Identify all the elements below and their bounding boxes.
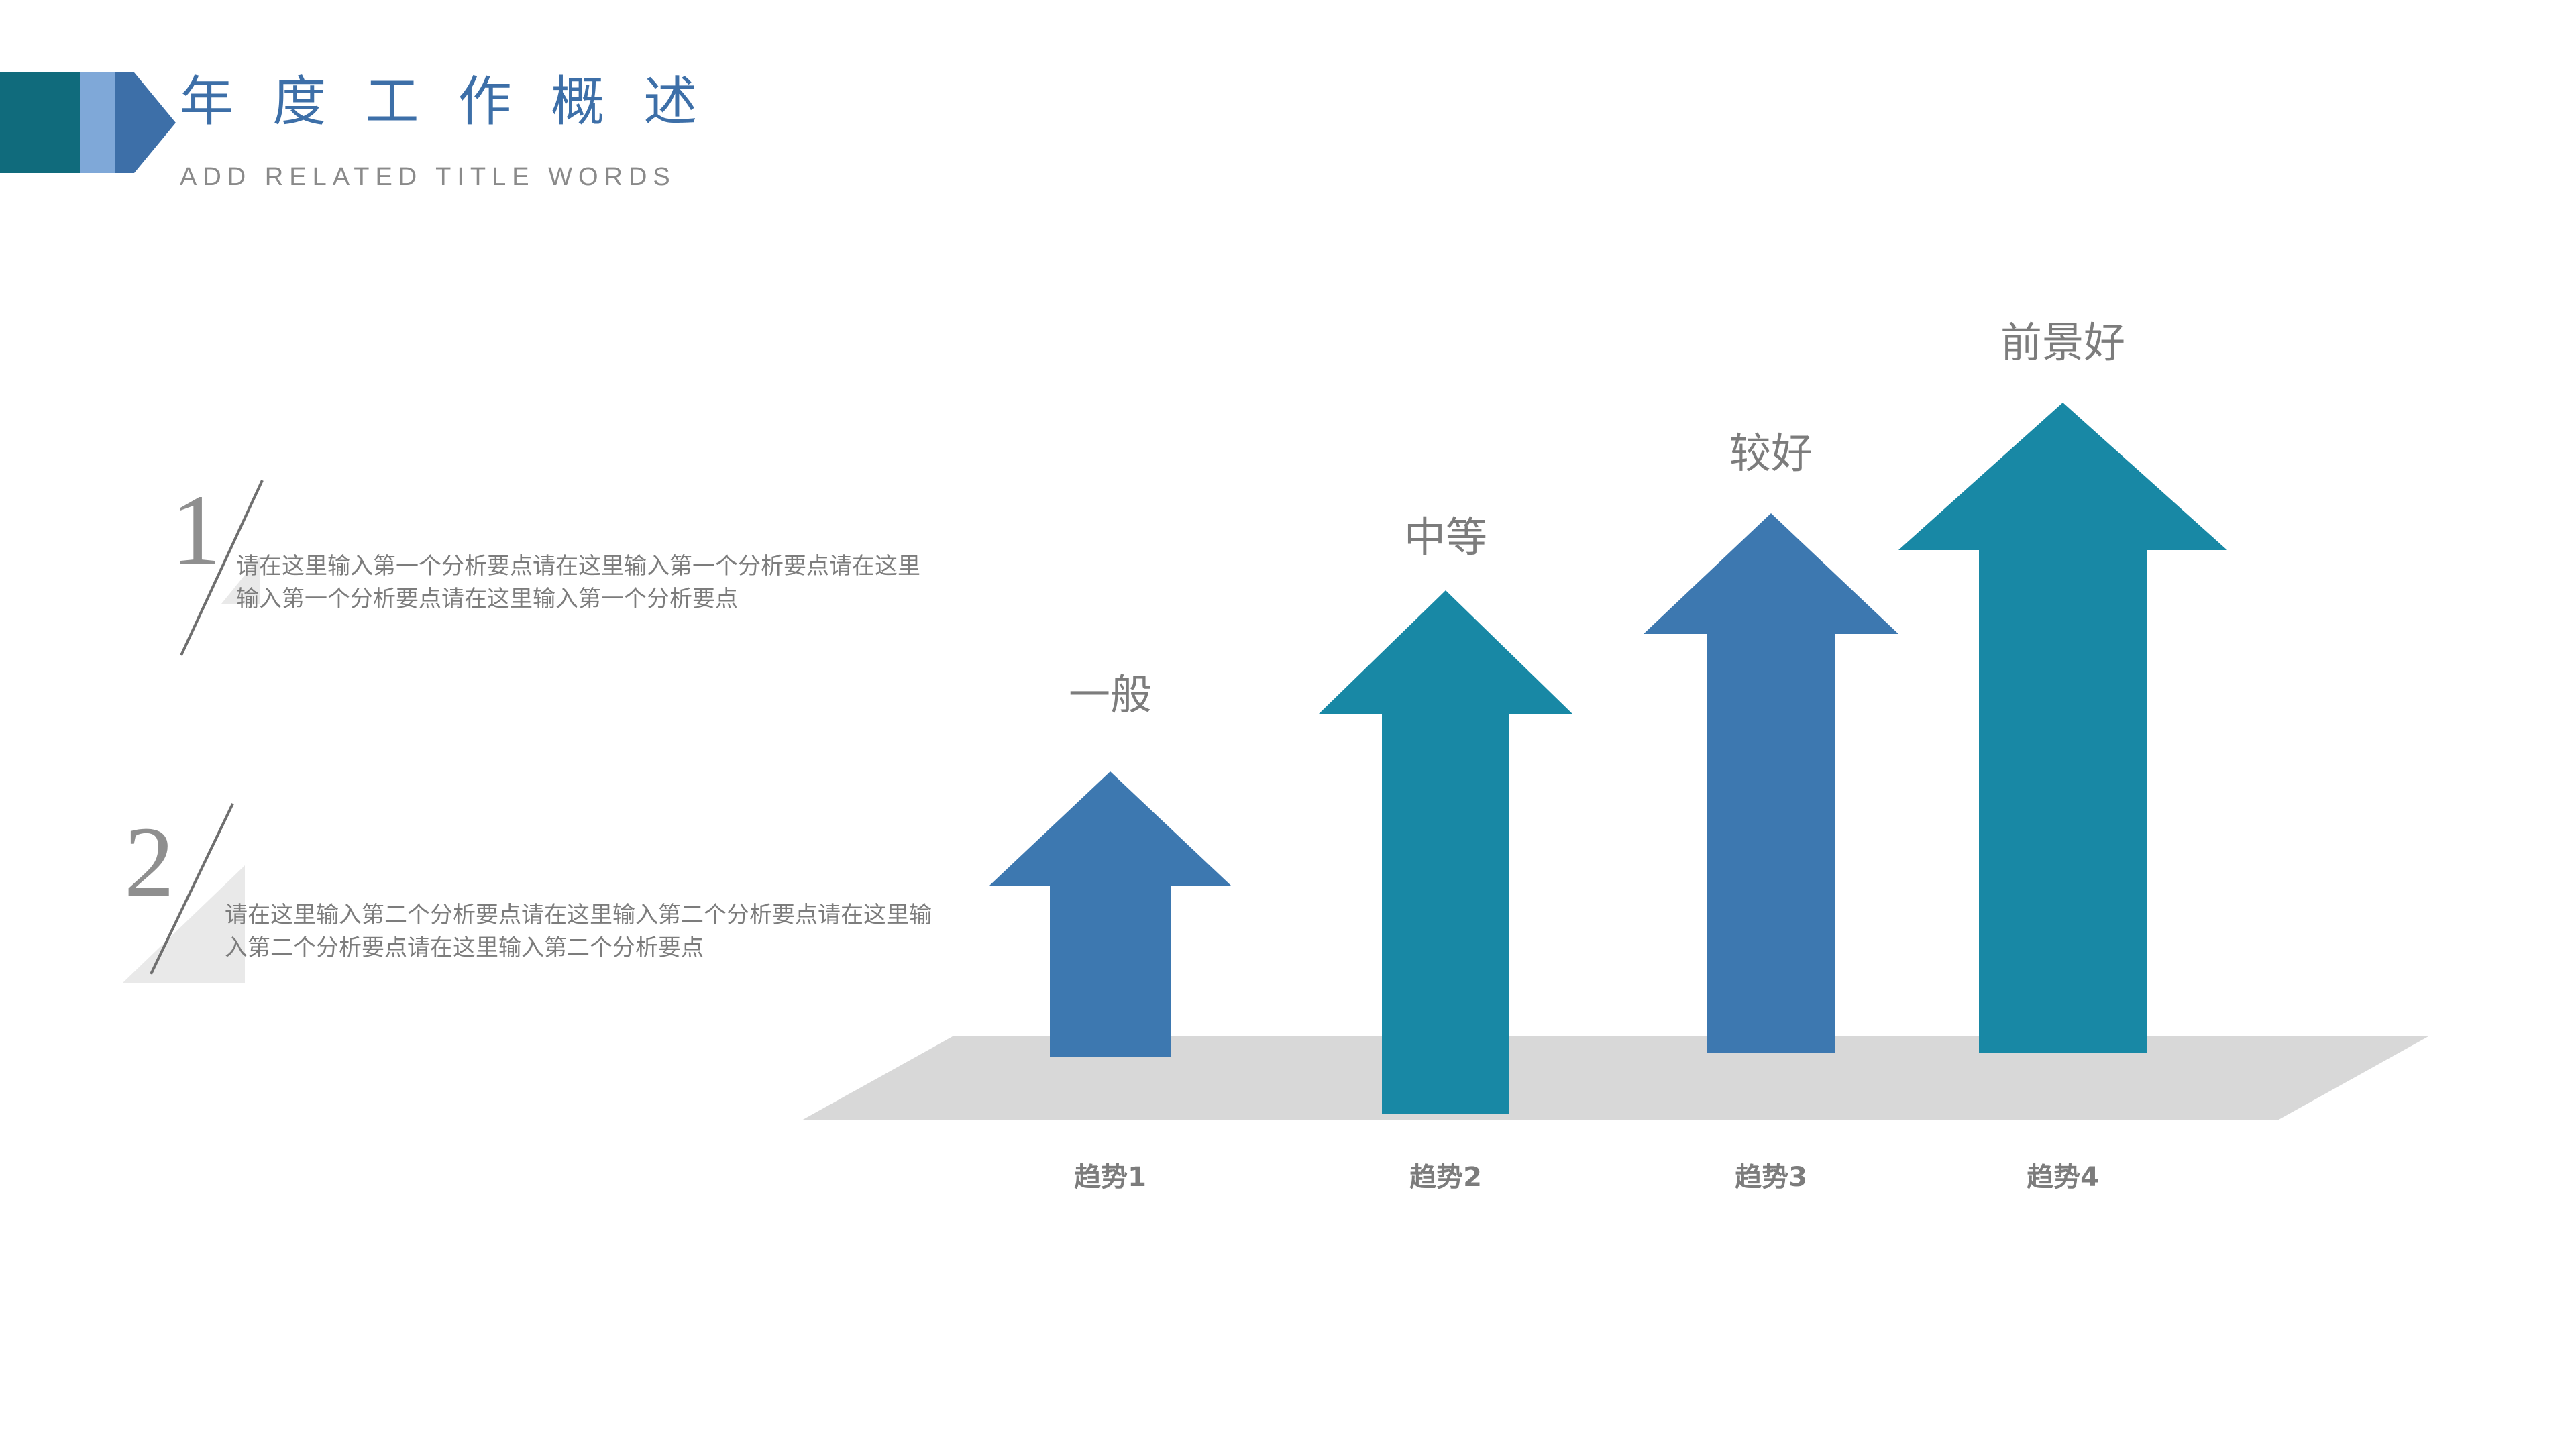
arrow-bar-3[interactable] (1644, 513, 1898, 1053)
arrow-bar-1[interactable] (989, 771, 1231, 1057)
arrow-value-label-2: 中等 (1311, 517, 1580, 558)
category-label-2: 趋势2 (1311, 1164, 1580, 1191)
arrow-value-label-1: 一般 (976, 674, 1244, 716)
category-label-3: 趋势3 (1637, 1164, 1905, 1191)
arrow-bar-4[interactable] (1898, 402, 2227, 1053)
category-label-4: 趋势4 (1929, 1164, 2197, 1191)
arrow-bar-2[interactable] (1318, 590, 1573, 1114)
arrow-value-label-4: 前景好 (1929, 322, 2197, 364)
chart-ground-platform (802, 1036, 2428, 1120)
arrow-bar-chart (0, 0, 2576, 1449)
category-label-1: 趋势1 (976, 1164, 1244, 1191)
arrow-value-label-3: 较好 (1637, 433, 1905, 474)
